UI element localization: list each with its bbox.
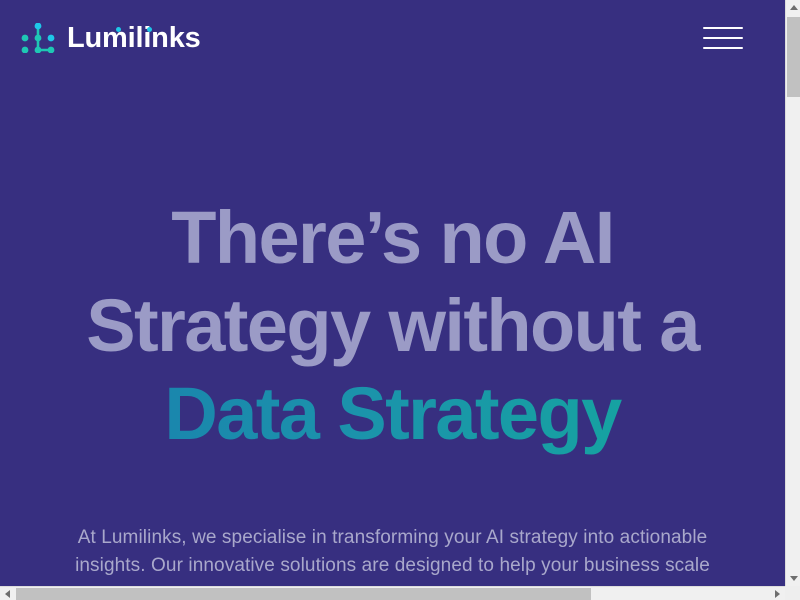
horizontal-scrollbar[interactable] <box>0 586 785 600</box>
hero-section: There’s no AI Strategy without a Data St… <box>0 76 785 580</box>
scroll-left-arrow-icon[interactable] <box>5 590 10 598</box>
site-header: Lumilinks <box>0 0 785 76</box>
hero-heading: There’s no AI Strategy without a Data St… <box>55 194 730 458</box>
hero-heading-line-1: There’s no AI <box>55 194 730 282</box>
brand-i-dot-second-icon <box>147 27 152 32</box>
page-content: Lumilinks There’s no AI Strategy without… <box>0 0 785 586</box>
hero-paragraph: At Lumilinks, we specialise in transform… <box>57 524 729 580</box>
vertical-scrollbar-thumb[interactable] <box>787 17 800 97</box>
vertical-scrollbar[interactable] <box>785 0 800 586</box>
hamburger-line-top-icon <box>703 27 743 29</box>
hamburger-menu-button[interactable] <box>703 24 743 52</box>
lumilinks-node-logo-icon <box>20 23 56 53</box>
brand-logo-link[interactable]: Lumilinks <box>20 23 201 53</box>
hamburger-line-middle-icon <box>703 37 743 39</box>
scroll-down-arrow-icon[interactable] <box>790 576 798 581</box>
brand-wordmark-text: Lumilinks <box>67 22 201 54</box>
scroll-right-arrow-icon[interactable] <box>775 590 780 598</box>
hamburger-line-bottom-icon <box>703 47 743 49</box>
hero-heading-line-3-accent: Data Strategy <box>55 370 730 458</box>
browser-viewport: Lumilinks There’s no AI Strategy without… <box>0 0 800 600</box>
horizontal-scrollbar-thumb[interactable] <box>16 588 591 600</box>
scroll-up-arrow-icon[interactable] <box>790 5 798 10</box>
brand-i-dot-first-icon <box>116 27 121 32</box>
hero-heading-line-2: Strategy without a <box>55 282 730 370</box>
brand-wordmark: Lumilinks <box>67 24 201 53</box>
